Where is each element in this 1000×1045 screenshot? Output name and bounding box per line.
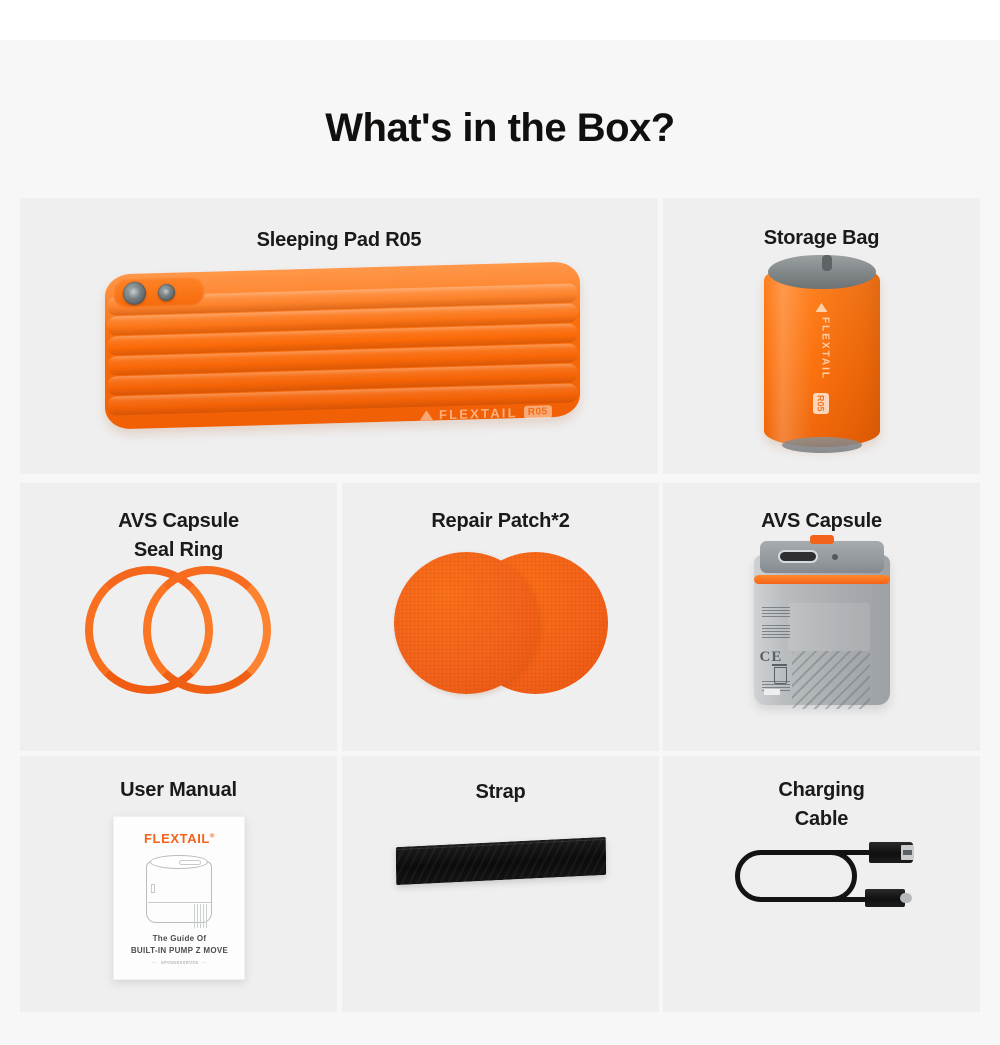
pinhole-icon: [832, 554, 838, 560]
cell-label-repair-patch: Repair Patch*2: [342, 507, 659, 536]
pump-line-drawing-icon: [146, 855, 212, 925]
bag-model-badge: R05: [813, 393, 829, 414]
usb-c-connector-icon: [865, 889, 905, 907]
weee-bin-icon: [774, 667, 787, 684]
valve-plate-icon: [113, 276, 205, 309]
grid-cell-avs-capsule[interactable]: AVS Capsule CE: [663, 483, 980, 751]
cell-label-seal-ring-line1: AVS Capsule: [20, 507, 337, 536]
cell-label-user-manual: User Manual: [20, 776, 337, 805]
grid-cell-sleeping-pad[interactable]: Sleeping Pad R05: [20, 198, 658, 474]
grid-cell-repair-patch[interactable]: Repair Patch*2: [342, 483, 659, 751]
cell-label-charging-cable-line1: Charging: [663, 776, 980, 805]
cell-label-avs-capsule: AVS Capsule: [663, 507, 980, 536]
capsule-top-cap: [760, 541, 884, 573]
seal-ring-right: [143, 566, 271, 694]
capsule-pull-tab-icon: [810, 535, 834, 544]
cell-label-strap: Strap: [342, 778, 659, 807]
cell-label-seal-ring-line2: Seal Ring: [20, 536, 337, 565]
whats-in-the-box-infographic: What's in the Box? Sleeping Pad R05: [0, 0, 1000, 1045]
usb-a-connector-icon: [869, 842, 913, 863]
cell-label-storage-bag: Storage Bag: [663, 224, 980, 253]
cell-label-sleeping-pad: Sleeping Pad R05: [20, 226, 658, 255]
manual-title-line2: BUILT-IN PUMP Z MOVE: [114, 945, 246, 957]
inflation-valve-icon: [123, 281, 146, 305]
repair-patch-front: [394, 552, 539, 694]
usb-c-port-icon: [778, 550, 818, 563]
grid-cell-storage-bag[interactable]: Storage Bag FLEXTAIL R05: [663, 198, 980, 474]
manual-cover-code: —SP05N600RV05—: [114, 960, 246, 965]
manual-brand-text: FLEXTAIL®: [114, 831, 246, 846]
capsule-orange-ring: [754, 575, 890, 584]
grid-cell-charging-cable[interactable]: Charging Cable: [663, 756, 980, 1012]
grid-cell-user-manual[interactable]: User Manual FLEXTAIL® The Guide Of: [20, 756, 337, 1012]
pad-model-badge: R05: [524, 405, 552, 419]
bag-drawstring-top: [768, 255, 876, 289]
page-title: What's in the Box?: [0, 96, 1000, 160]
pad-brand-text: FLEXTAIL: [439, 405, 518, 422]
manual-title-line1: The Guide Of: [114, 933, 246, 945]
contents-grid: Sleeping Pad R05: [20, 198, 980, 1012]
grid-cell-strap[interactable]: Strap: [342, 756, 659, 1012]
deflation-valve-icon: [158, 284, 175, 301]
flextail-mountain-icon: [420, 410, 433, 420]
bag-brand-text: FLEXTAIL: [813, 317, 831, 380]
grid-cell-avs-capsule-seal-ring[interactable]: AVS Capsule Seal Ring: [20, 483, 337, 751]
manual-cover-title: The Guide Of BUILT-IN PUMP Z MOVE: [114, 933, 246, 957]
pad-brand-mark: FLEXTAIL R05: [420, 404, 552, 423]
